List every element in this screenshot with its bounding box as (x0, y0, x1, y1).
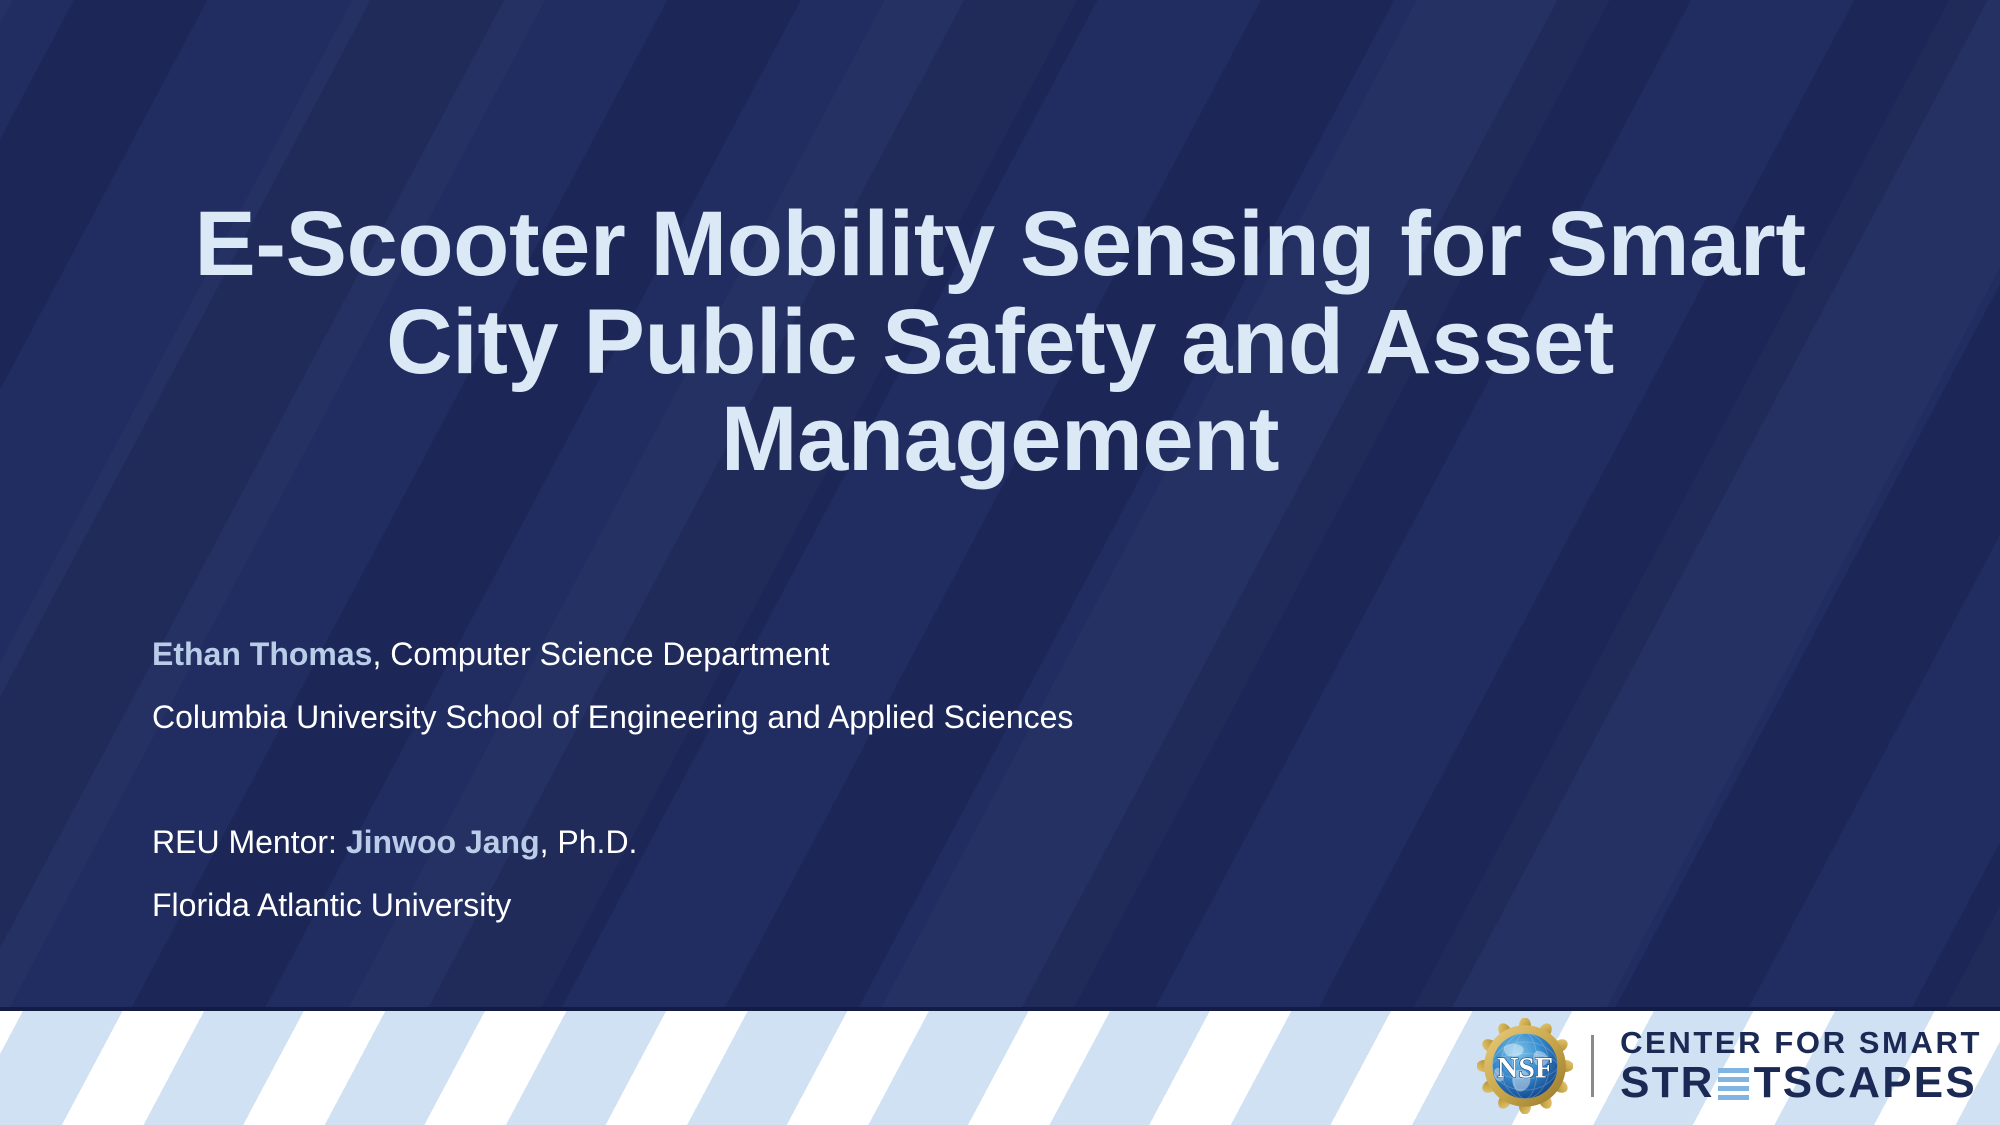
wordmark-line-2-after: TSCAPES (1754, 1061, 1977, 1105)
stylized-e-bars-icon (1718, 1068, 1749, 1100)
background-diagonal-stripes-overlay (0, 0, 2000, 1125)
title-line-1: E-Scooter Mobility Sensing for Smart (60, 196, 1940, 294)
presenter-name: Ethan Thomas (152, 636, 372, 672)
mentor-degree: , Ph.D. (540, 824, 638, 860)
presenter-line: Ethan Thomas, Computer Science Departmen… (152, 638, 1552, 670)
mentor-institution: Florida Atlantic University (152, 889, 1552, 921)
footer-top-rule (0, 1007, 2000, 1011)
wordmark-line-2-before: STR (1620, 1061, 1715, 1105)
logo-lockup: NSF CENTER FOR SMART STR TSCAPES (1477, 1014, 1982, 1118)
mentor-label: REU Mentor: (152, 824, 346, 860)
logo-divider (1591, 1035, 1594, 1097)
nsf-seal-icon: NSF (1477, 1018, 1573, 1114)
title-line-2: City Public Safety and Asset (60, 294, 1940, 392)
presenter-department: , Computer Science Department (372, 636, 829, 672)
presenter-institution: Columbia University School of Engineerin… (152, 701, 1552, 733)
title-slide: E-Scooter Mobility Sensing for Smart Cit… (0, 0, 2000, 1125)
nsf-seal-label: NSF (1497, 1052, 1553, 1085)
author-block: Ethan Thomas, Computer Science Departmen… (152, 638, 1552, 952)
wordmark-line-1: CENTER FOR SMART (1620, 1027, 1982, 1058)
mentor-name: Jinwoo Jang (346, 824, 540, 860)
wordmark-line-2: STR TSCAPES (1620, 1061, 1982, 1105)
mentor-line: REU Mentor: Jinwoo Jang, Ph.D. (152, 826, 1552, 858)
center-for-smart-streetscapes-wordmark: CENTER FOR SMART STR TSCAPES (1620, 1027, 1982, 1105)
title-line-3: Management (60, 391, 1940, 489)
page-title: E-Scooter Mobility Sensing for Smart Cit… (60, 196, 1940, 489)
